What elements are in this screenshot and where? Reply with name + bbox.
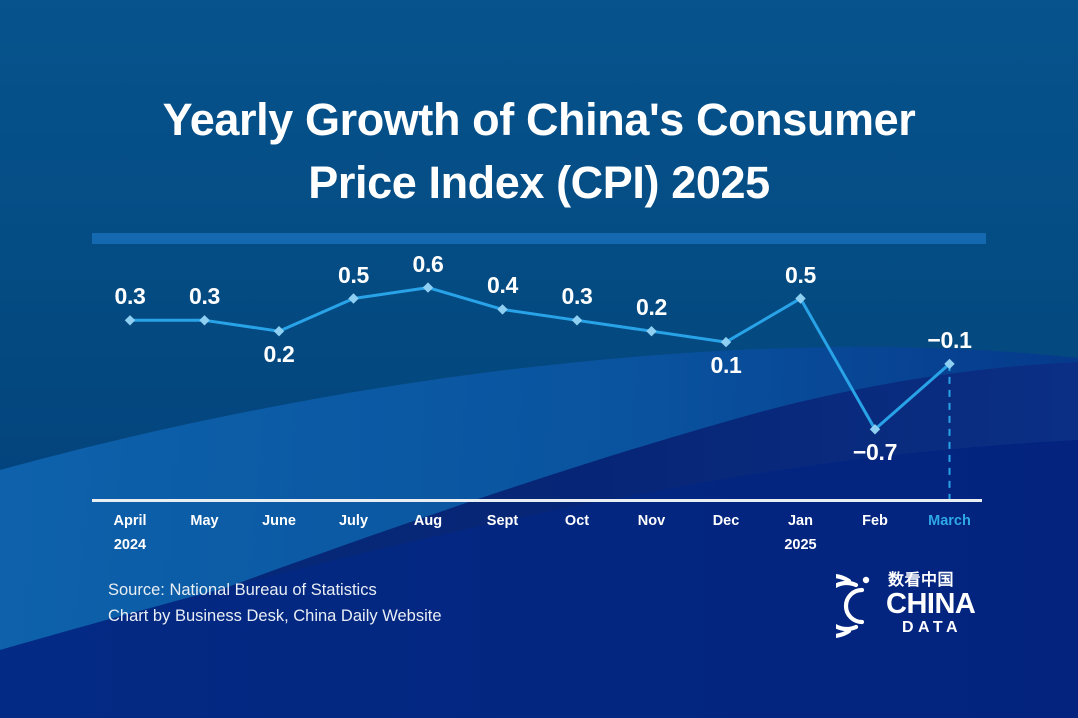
x-tick-month: Sept: [487, 513, 518, 529]
value-label: 0.3: [189, 283, 220, 310]
china-data-logo: 数看中国 CHINA DATA: [836, 566, 996, 638]
x-tick-month: Feb: [862, 513, 888, 529]
x-tick-year: 2025: [784, 533, 816, 557]
data-point-marker: [348, 293, 358, 303]
x-tick-month: March: [928, 513, 971, 529]
x-tick-march: March: [928, 509, 971, 533]
x-tick-sept: Sept: [487, 509, 518, 533]
value-label: 0.5: [785, 262, 816, 289]
logo-chinese-text: 数看中国: [888, 570, 954, 589]
x-tick-month: May: [190, 513, 218, 529]
x-tick-month: Dec: [713, 513, 740, 529]
cpi-infographic: Yearly Growth of China's Consumer Price …: [0, 0, 1078, 718]
data-point-marker: [125, 315, 135, 325]
source-line-2: Chart by Business Desk, China Daily Webs…: [108, 603, 442, 629]
data-point-markers: [125, 282, 955, 434]
value-label: 0.5: [338, 262, 369, 289]
x-tick-month: June: [262, 513, 296, 529]
cpi-series-line: [130, 288, 950, 430]
value-label: 0.3: [114, 283, 145, 310]
x-tick-feb: Feb: [862, 509, 888, 533]
x-tick-month: April: [113, 513, 146, 529]
source-line-1: Source: National Bureau of Statistics: [108, 577, 442, 603]
data-point-marker: [274, 326, 284, 336]
data-point-marker: [572, 315, 582, 325]
value-label: 0.2: [263, 341, 294, 368]
value-label: −0.7: [853, 439, 897, 466]
logo-subname-text: DATA: [902, 619, 962, 636]
x-tick-april: April2024: [113, 509, 146, 557]
value-label: 0.1: [710, 352, 741, 379]
x-tick-july: July: [339, 509, 368, 533]
value-label: 0.4: [487, 272, 518, 299]
data-point-marker: [646, 326, 656, 336]
signal-arcs-icon: [836, 576, 869, 636]
x-tick-month: Nov: [638, 513, 665, 529]
x-tick-month: Jan: [788, 513, 813, 529]
x-tick-aug: Aug: [414, 509, 442, 533]
x-tick-month: July: [339, 513, 368, 529]
x-tick-month: Aug: [414, 513, 442, 529]
x-tick-month: Oct: [565, 513, 589, 529]
x-tick-nov: Nov: [638, 509, 665, 533]
x-axis-line: [92, 499, 982, 502]
value-label: −0.1: [927, 327, 971, 354]
value-label: 0.6: [412, 251, 443, 278]
data-point-marker: [423, 282, 433, 292]
data-point-marker: [199, 315, 209, 325]
logo-svg: 数看中国 CHINA DATA: [836, 566, 996, 638]
logo-name-text: CHINA: [886, 588, 976, 620]
x-tick-jan: Jan2025: [784, 509, 816, 557]
x-tick-year: 2024: [113, 533, 146, 557]
x-tick-may: May: [190, 509, 218, 533]
value-label: 0.3: [561, 283, 592, 310]
x-tick-dec: Dec: [713, 509, 740, 533]
x-tick-june: June: [262, 509, 296, 533]
value-label: 0.2: [636, 294, 667, 321]
x-tick-oct: Oct: [565, 509, 589, 533]
data-point-marker: [497, 304, 507, 314]
source-note: Source: National Bureau of Statistics Ch…: [108, 577, 442, 629]
